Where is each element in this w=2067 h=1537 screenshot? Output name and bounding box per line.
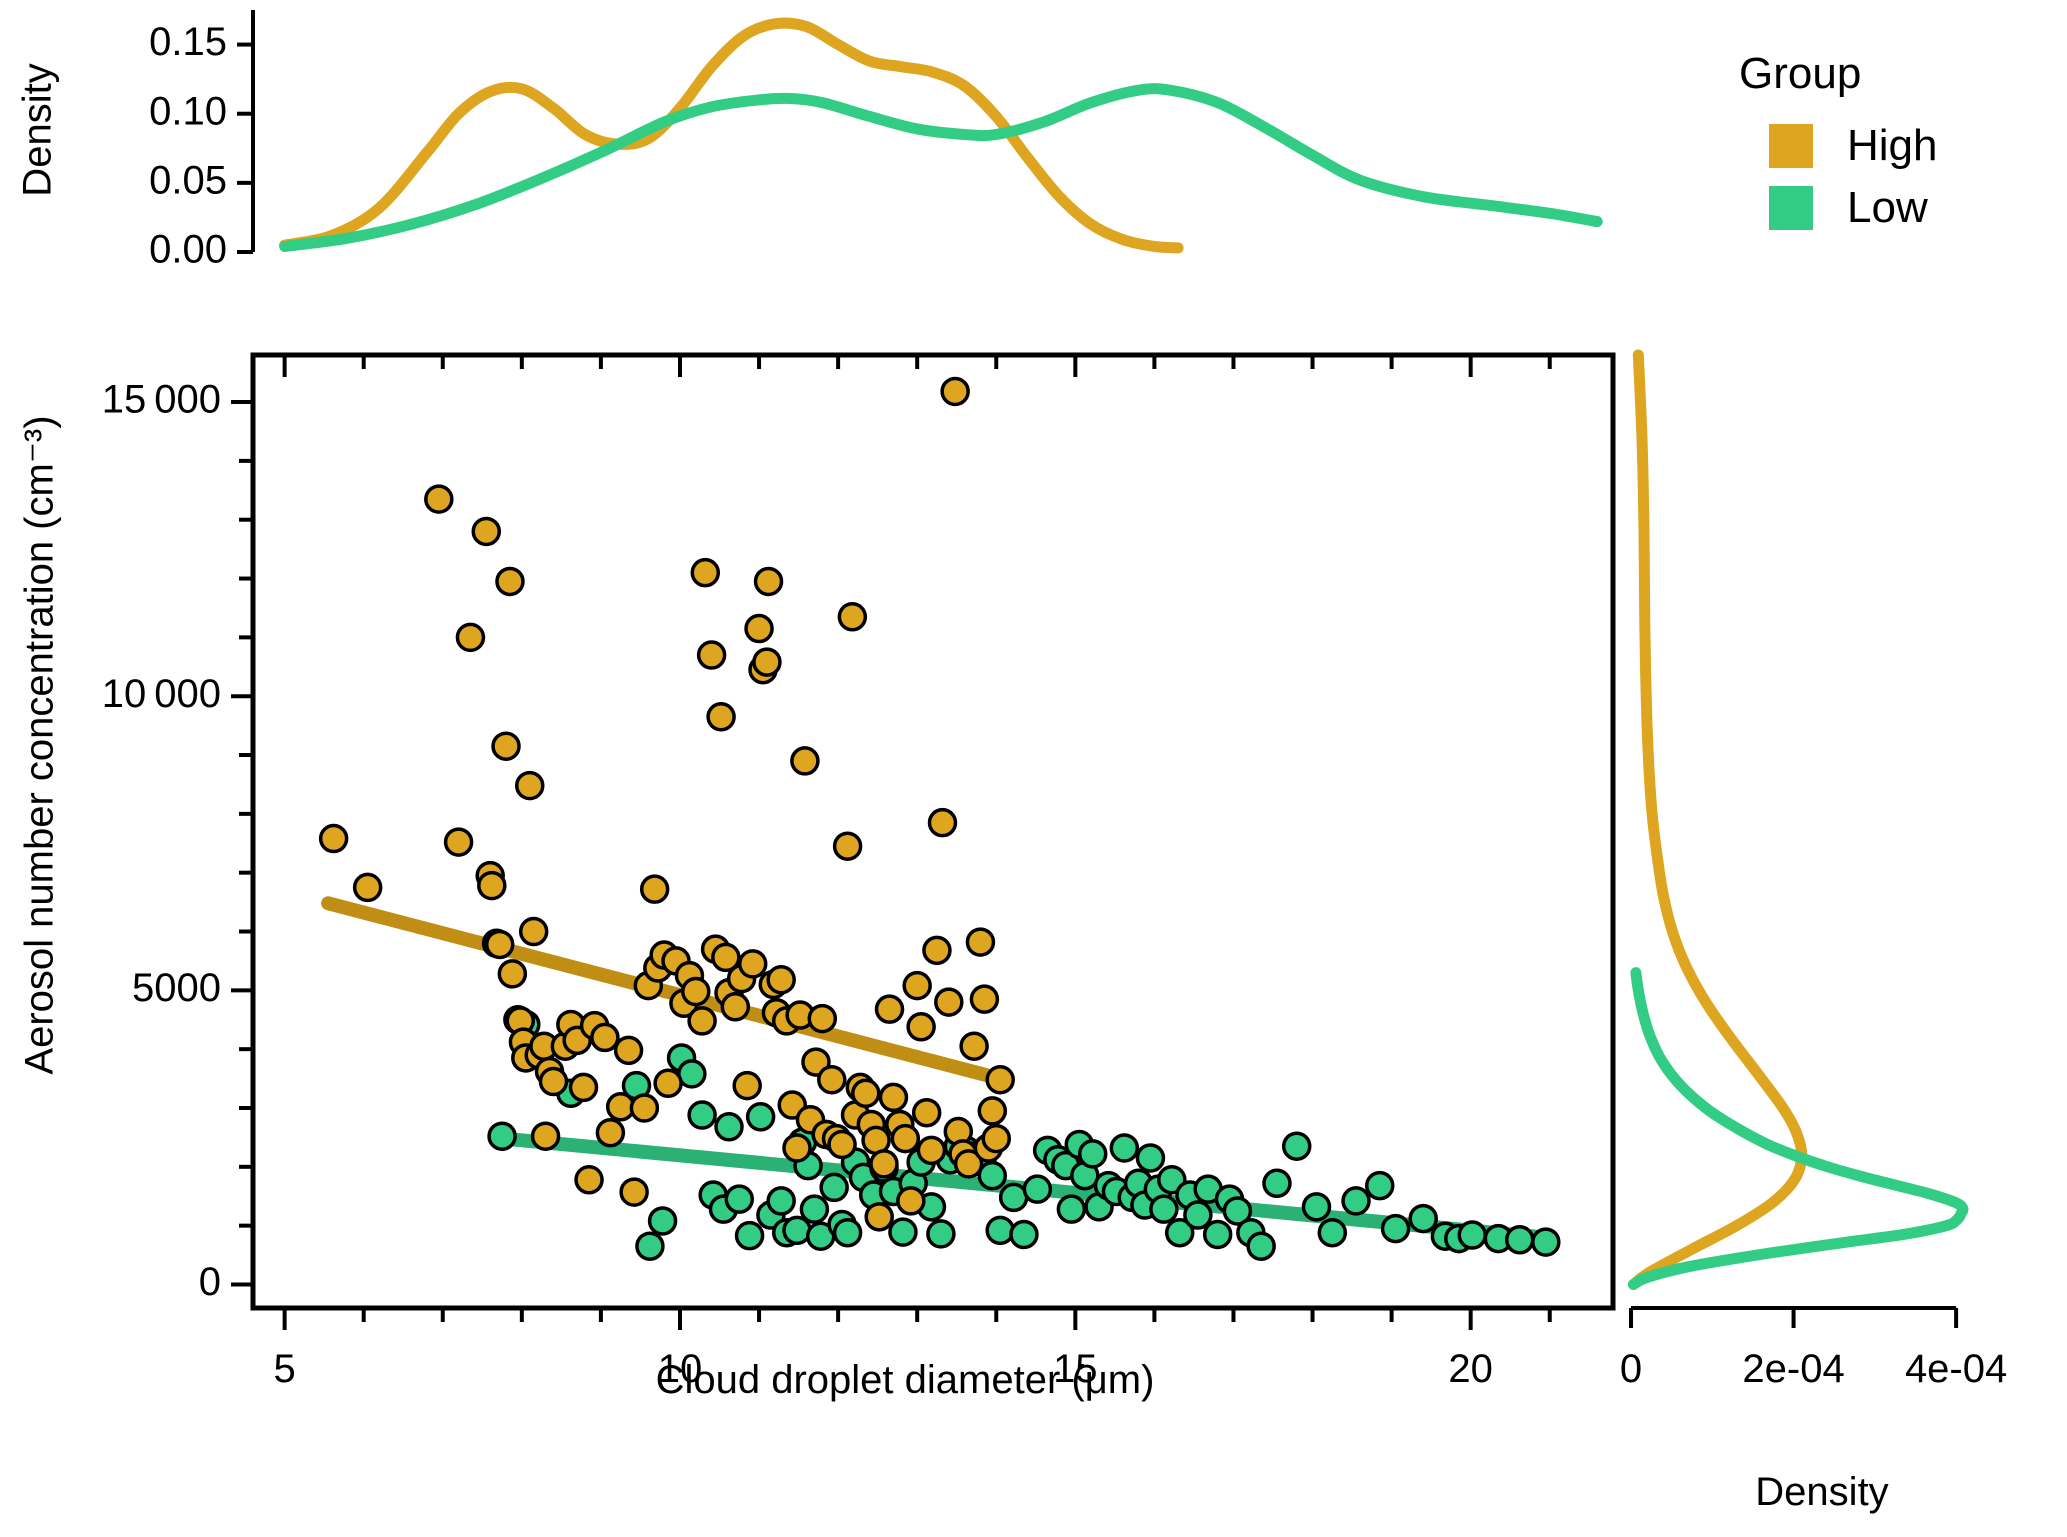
right-axis-tick-label: 4e-04 bbox=[1905, 1347, 2007, 1391]
scatter-point-high bbox=[983, 1126, 1009, 1152]
scatter-point-low bbox=[987, 1217, 1013, 1243]
scatter-point-high bbox=[597, 1120, 623, 1146]
scatter-point-low bbox=[1284, 1133, 1310, 1159]
scatter-point-low bbox=[1303, 1194, 1329, 1220]
scatter-point-high bbox=[592, 1024, 618, 1050]
y-axis-tick-label: 15 000 bbox=[102, 378, 221, 422]
scatter-point-high bbox=[722, 994, 748, 1020]
top-density-curve-low bbox=[285, 89, 1598, 247]
scatter-point-high bbox=[784, 1135, 810, 1161]
scatter-point-high bbox=[740, 951, 766, 977]
scatter-point-high bbox=[971, 986, 997, 1012]
scatter-point-high bbox=[871, 1151, 897, 1177]
top-density-curve-high bbox=[285, 23, 1178, 248]
scatter-point-high bbox=[517, 773, 543, 799]
scatter-point-low bbox=[1111, 1135, 1137, 1161]
scatter-point-low bbox=[1205, 1221, 1231, 1247]
scatter-point-high bbox=[904, 973, 930, 999]
scatter-point-high bbox=[809, 1006, 835, 1032]
y-axis-tick-label: 10 000 bbox=[102, 672, 221, 716]
scatter-point-high bbox=[829, 1131, 855, 1157]
top-density-panel: 0.000.050.100.15 Density bbox=[0, 0, 1640, 270]
right-density-panel: 02e-044e-04 Density bbox=[1617, 265, 2067, 1535]
scatter-point-low bbox=[821, 1174, 847, 1200]
scatter-point-low bbox=[1248, 1233, 1274, 1259]
scatter-point-high bbox=[756, 568, 782, 594]
scatter-point-low bbox=[979, 1163, 1005, 1189]
scatter-point-low bbox=[650, 1208, 676, 1234]
scatter-point-low bbox=[1080, 1141, 1106, 1167]
scatter-point-high bbox=[929, 810, 955, 836]
scatter-point-high bbox=[835, 833, 861, 859]
right-panel-axis-label: Density bbox=[1755, 1470, 1888, 1514]
x-axis-tick-label: 20 bbox=[1448, 1347, 1493, 1391]
scatter-point-high bbox=[446, 829, 472, 855]
main-scatter-panel: 51015200500010 00015 000 Cloud droplet d… bbox=[0, 265, 1640, 1445]
scatter-point-high bbox=[487, 931, 513, 957]
scatter-point-low bbox=[716, 1114, 742, 1140]
scatter-point-high bbox=[499, 961, 525, 987]
figure-root: 0.000.050.100.15 Density 51015200500010 … bbox=[0, 0, 2067, 1537]
scatter-point-low bbox=[928, 1221, 954, 1247]
scatter-point-low bbox=[689, 1102, 715, 1128]
scatter-points bbox=[321, 378, 1559, 1259]
scatter-point-low bbox=[1264, 1170, 1290, 1196]
scatter-point-low bbox=[637, 1233, 663, 1259]
scatter-point-high bbox=[621, 1179, 647, 1205]
scatter-point-high bbox=[914, 1100, 940, 1126]
scatter-point-high bbox=[866, 1204, 892, 1230]
scatter-point-low bbox=[1507, 1227, 1533, 1253]
scatter-point-low bbox=[801, 1196, 827, 1222]
scatter-point-high bbox=[792, 748, 818, 774]
scatter-point-low bbox=[748, 1104, 774, 1130]
scatter-point-high bbox=[642, 876, 668, 902]
scatter-point-high bbox=[457, 624, 483, 650]
legend-swatch-high bbox=[1769, 124, 1813, 168]
scatter-point-high bbox=[533, 1123, 559, 1149]
top-axis-tick-label: 0.00 bbox=[149, 228, 227, 270]
scatter-point-high bbox=[355, 874, 381, 900]
scatter-point-high bbox=[540, 1069, 566, 1095]
scatter-point-high bbox=[426, 486, 452, 512]
legend: Group HighLow bbox=[1735, 40, 2067, 260]
scatter-point-high bbox=[699, 642, 725, 668]
scatter-point-high bbox=[689, 1008, 715, 1034]
x-axis-tick-label: 5 bbox=[274, 1347, 296, 1391]
scatter-point-low bbox=[1058, 1196, 1084, 1222]
scatter-point-high bbox=[521, 919, 547, 945]
scatter-point-high bbox=[479, 873, 505, 899]
y-axis-label: Aerosol number concentration (cm⁻³) bbox=[18, 415, 62, 1074]
scatter-point-high bbox=[908, 1014, 934, 1040]
scatter-point-high bbox=[497, 568, 523, 594]
scatter-point-high bbox=[853, 1080, 879, 1106]
legend-label-low: Low bbox=[1847, 183, 1928, 232]
scatter-point-high bbox=[754, 649, 780, 675]
scatter-point-low bbox=[1459, 1222, 1485, 1248]
scatter-point-high bbox=[571, 1074, 597, 1100]
scatter-point-high bbox=[692, 560, 718, 586]
scatter-point-high bbox=[967, 929, 993, 955]
scatter-point-high bbox=[924, 937, 950, 963]
scatter-point-low bbox=[890, 1219, 916, 1245]
scatter-point-low bbox=[489, 1123, 515, 1149]
right-axis-tick-label: 0 bbox=[1620, 1347, 1642, 1391]
scatter-point-low bbox=[1383, 1216, 1409, 1242]
x-axis-label: Cloud droplet diameter (μm) bbox=[656, 1358, 1155, 1402]
top-axis-tick-label: 0.05 bbox=[149, 158, 227, 202]
legend-items: HighLow bbox=[1769, 121, 1938, 232]
scatter-point-low bbox=[835, 1220, 861, 1246]
scatter-point-low bbox=[1367, 1173, 1393, 1199]
scatter-point-low bbox=[1319, 1220, 1345, 1246]
scatter-point-low bbox=[1024, 1176, 1050, 1202]
scatter-point-low bbox=[1533, 1229, 1559, 1255]
scatter-point-low bbox=[1410, 1206, 1436, 1232]
scatter-point-high bbox=[918, 1137, 944, 1163]
scatter-point-high bbox=[898, 1188, 924, 1214]
scatter-point-high bbox=[942, 378, 968, 404]
scatter-point-low bbox=[1011, 1221, 1037, 1247]
scatter-point-high bbox=[734, 1073, 760, 1099]
right-panel-axis: 02e-044e-04 bbox=[1620, 1308, 2007, 1391]
scatter-point-high bbox=[655, 1070, 681, 1096]
scatter-point-high bbox=[616, 1037, 642, 1063]
scatter-point-high bbox=[473, 518, 499, 544]
top-panel-axis: 0.000.050.100.15 bbox=[149, 10, 253, 270]
scatter-point-high bbox=[819, 1067, 845, 1093]
scatter-point-high bbox=[987, 1067, 1013, 1093]
scatter-point-high bbox=[892, 1126, 918, 1152]
legend-label-high: High bbox=[1847, 121, 1938, 170]
scatter-point-high bbox=[839, 604, 865, 630]
scatter-point-low bbox=[1137, 1145, 1163, 1171]
scatter-point-high bbox=[880, 1084, 906, 1110]
scatter-point-high bbox=[746, 616, 772, 642]
top-axis-tick-label: 0.10 bbox=[149, 89, 227, 133]
regression-line-high bbox=[328, 903, 1004, 1079]
scatter-point-high bbox=[321, 826, 347, 852]
scatter-point-high bbox=[493, 733, 519, 759]
scatter-point-low bbox=[1185, 1202, 1211, 1228]
top-axis-tick-label: 0.15 bbox=[149, 20, 227, 64]
scatter-point-high bbox=[683, 979, 709, 1005]
scatter-point-high bbox=[576, 1167, 602, 1193]
scatter-point-high bbox=[936, 989, 962, 1015]
scatter-point-low bbox=[1343, 1188, 1369, 1214]
scatter-point-high bbox=[961, 1033, 987, 1059]
scatter-point-high bbox=[877, 996, 903, 1022]
scatter-point-high bbox=[708, 704, 734, 730]
right-panel-curves bbox=[1633, 355, 1963, 1284]
scatter-point-low bbox=[726, 1186, 752, 1212]
scatter-point-high bbox=[979, 1098, 1005, 1124]
scatter-point-low bbox=[1151, 1196, 1177, 1222]
y-axis-tick-label: 0 bbox=[199, 1260, 221, 1304]
scatter-point-high bbox=[631, 1095, 657, 1121]
legend-title: Group bbox=[1739, 49, 1861, 98]
top-panel-axis-label: Density bbox=[16, 63, 60, 196]
legend-swatch-low bbox=[1769, 186, 1813, 230]
top-panel-curves bbox=[285, 23, 1598, 248]
scatter-point-low bbox=[768, 1188, 794, 1214]
scatter-point-low bbox=[737, 1223, 763, 1249]
scatter-point-high bbox=[768, 967, 794, 993]
y-axis-tick-label: 5000 bbox=[132, 966, 221, 1010]
right-axis-tick-label: 2e-04 bbox=[1742, 1347, 1844, 1391]
